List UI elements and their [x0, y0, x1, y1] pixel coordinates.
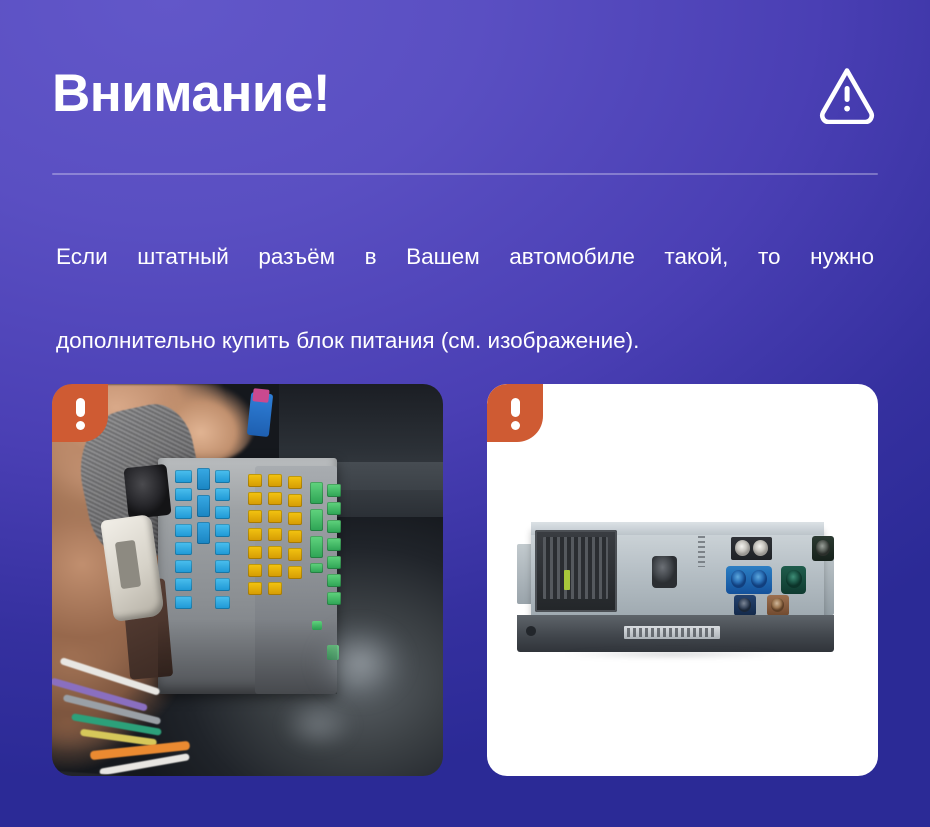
exclamation-icon	[511, 398, 520, 428]
power-supply-module-photo	[510, 513, 854, 654]
green-tab	[564, 570, 570, 590]
notice-paragraph: Если штатный разъём в Вашем автомобиле т…	[56, 236, 874, 362]
exclamation-badge	[487, 384, 543, 442]
round-knob	[652, 556, 678, 588]
pin-column-blue-3	[215, 470, 231, 609]
pin-column-green-2	[327, 484, 340, 605]
module-drop-shadow	[524, 649, 820, 659]
pink-clip	[253, 388, 271, 402]
pin-column-yellow-3	[288, 476, 302, 579]
notice-paragraph-line-1: Если штатный разъём в Вашем автомобиле т…	[56, 236, 874, 320]
image-cards-row	[52, 384, 878, 776]
black-round-connector	[124, 464, 172, 519]
warning-notice-page: Внимание! Если штатный разъём в Вашем ав…	[0, 0, 930, 827]
card-stock-connector[interactable]	[52, 384, 443, 776]
exclamation-badge	[52, 384, 108, 442]
stock-connector-photo	[52, 384, 443, 776]
black-connector-pins	[543, 537, 608, 599]
dark-coax-port-top	[816, 540, 830, 556]
module-label-text	[627, 628, 716, 636]
pin-column-yellow-2	[268, 474, 282, 595]
green-coax-port	[786, 570, 802, 588]
pin-column-yellow-1	[248, 474, 262, 595]
wire-harness	[52, 658, 271, 776]
warning-triangle-icon	[816, 62, 878, 124]
white-coax-port-2	[753, 540, 768, 556]
pin-column-blue-2	[197, 468, 210, 544]
pin-column-green-1	[310, 482, 323, 573]
photo-background-strip-2	[326, 462, 443, 517]
pin-column-blue-1	[175, 470, 191, 609]
vertical-label-text	[698, 536, 705, 567]
page-title: Внимание!	[52, 67, 330, 120]
brown-coax-port	[771, 598, 784, 612]
card-power-supply[interactable]	[487, 384, 878, 776]
exclamation-icon	[76, 398, 85, 428]
white-coax-port-1	[735, 540, 750, 556]
background-highlight-2	[267, 690, 369, 761]
header-divider	[52, 173, 878, 175]
page-header: Внимание!	[52, 48, 878, 138]
notice-paragraph-line-2: дополнительно купить блок питания (см. и…	[56, 320, 874, 362]
